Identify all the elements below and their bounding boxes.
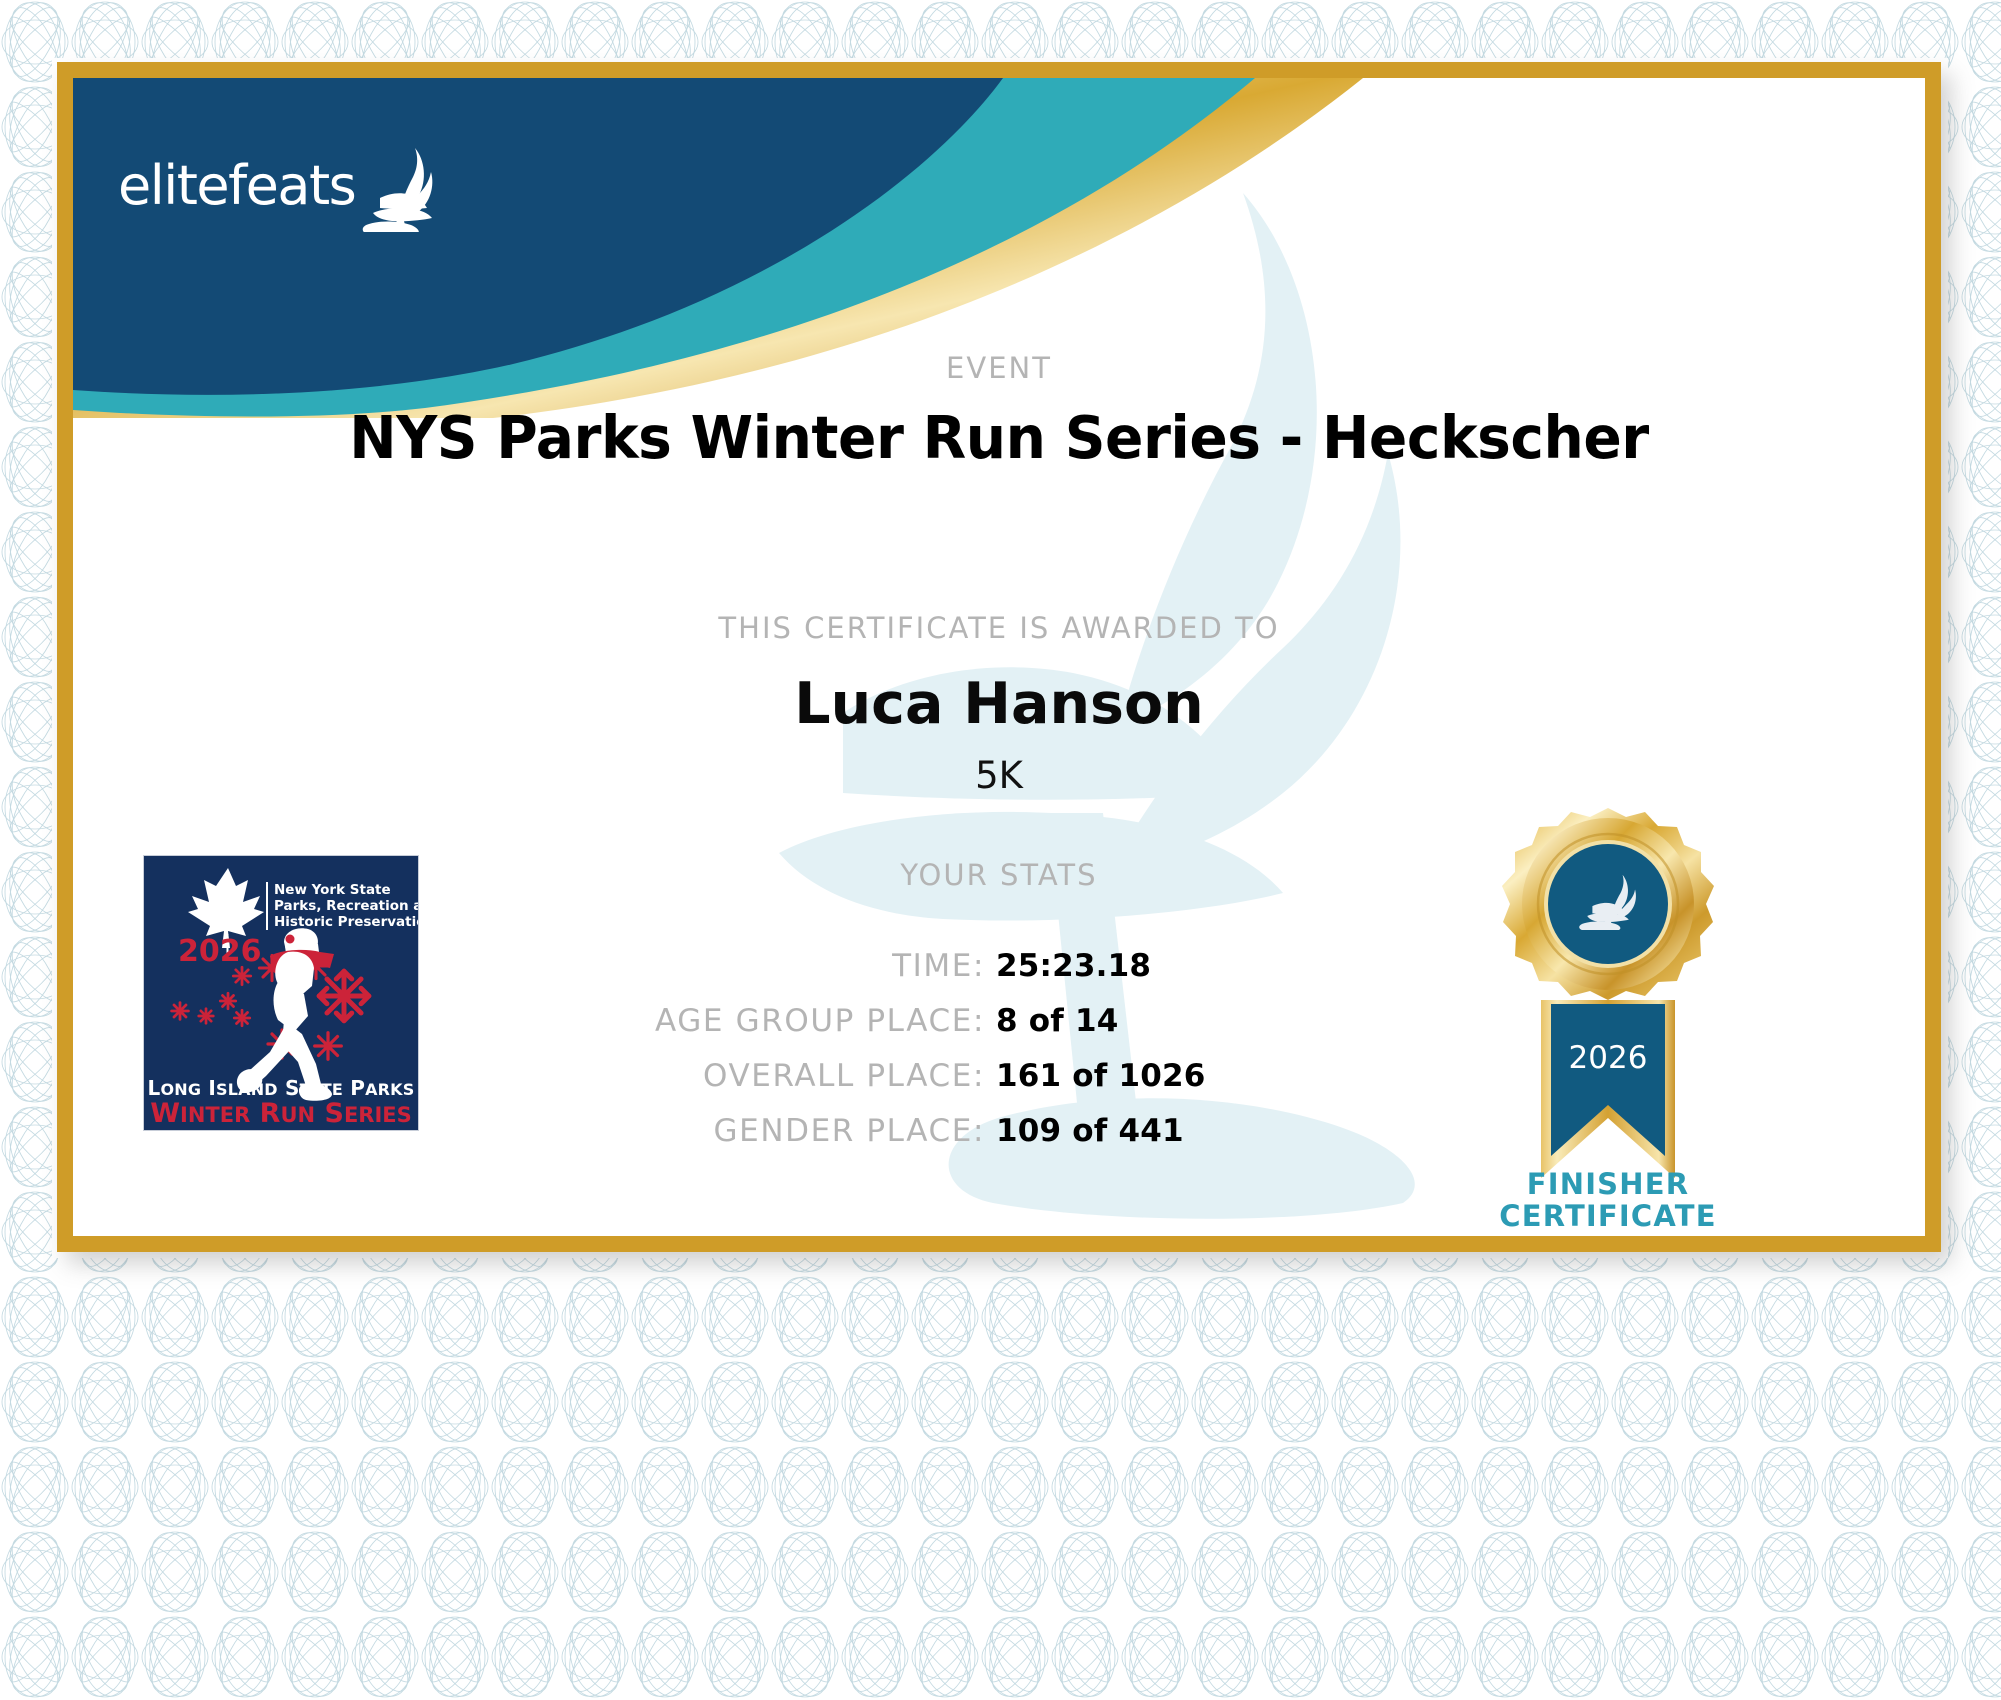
brand-wordmark: elitefeats xyxy=(118,159,355,213)
stats-table: TIME: 25:23.18 AGE GROUP PLACE: 8 of 14 … xyxy=(471,948,1211,1168)
event-logo-badge: New York State Parks, Recreation and His… xyxy=(143,855,419,1131)
stat-row: AGE GROUP PLACE: 8 of 14 xyxy=(471,1003,1211,1058)
certificate-card: elitefeats EVENT NYS Parks Winter Run Se… xyxy=(57,62,1941,1252)
stat-value: 161 of 1026 xyxy=(996,1058,1211,1094)
stat-row: OVERALL PLACE: 161 of 1026 xyxy=(471,1058,1211,1113)
stat-key: TIME: xyxy=(892,948,985,984)
finisher-medal: 2026 xyxy=(1463,800,1753,1200)
series-line-1: LONG ISLAND STATE PARKS xyxy=(148,1076,415,1100)
stat-value: 8 of 14 xyxy=(996,1003,1211,1039)
awarded-to-label: THIS CERTIFICATE IS AWARDED TO xyxy=(73,611,1925,645)
stat-row: GENDER PLACE: 109 of 441 xyxy=(471,1113,1211,1168)
stat-key: AGE GROUP PLACE: xyxy=(655,1003,985,1039)
stat-key: OVERALL PLACE: xyxy=(703,1058,985,1094)
stat-row: TIME: 25:23.18 xyxy=(471,948,1211,1003)
finisher-caption-line-2: CERTIFICATE xyxy=(1423,1200,1793,1232)
finisher-caption: FINISHER CERTIFICATE xyxy=(1423,1168,1793,1233)
event-label: EVENT xyxy=(73,351,1925,385)
agency-line-3: Historic Preservation xyxy=(274,914,418,930)
agency-line-1: New York State xyxy=(274,882,391,898)
finisher-caption-line-1: FINISHER xyxy=(1423,1168,1793,1200)
agency-line-2: Parks, Recreation and xyxy=(274,898,418,914)
elitefeats-logo: elitefeats xyxy=(118,138,478,233)
badge-year: 2026 xyxy=(178,934,262,969)
race-distance: 5K xyxy=(73,754,1925,797)
medal-year: 2026 xyxy=(1569,1040,1648,1076)
stat-key: GENDER PLACE: xyxy=(714,1113,985,1149)
winged-foot-icon xyxy=(359,146,437,232)
stat-value: 109 of 441 xyxy=(996,1113,1211,1149)
event-title: NYS Parks Winter Run Series - Heckscher xyxy=(110,403,1888,472)
stat-value: 25:23.18 xyxy=(996,948,1211,984)
recipient-name: Luca Hanson xyxy=(73,671,1925,737)
series-line-2: WINTER RUN SERIES xyxy=(150,1098,412,1129)
